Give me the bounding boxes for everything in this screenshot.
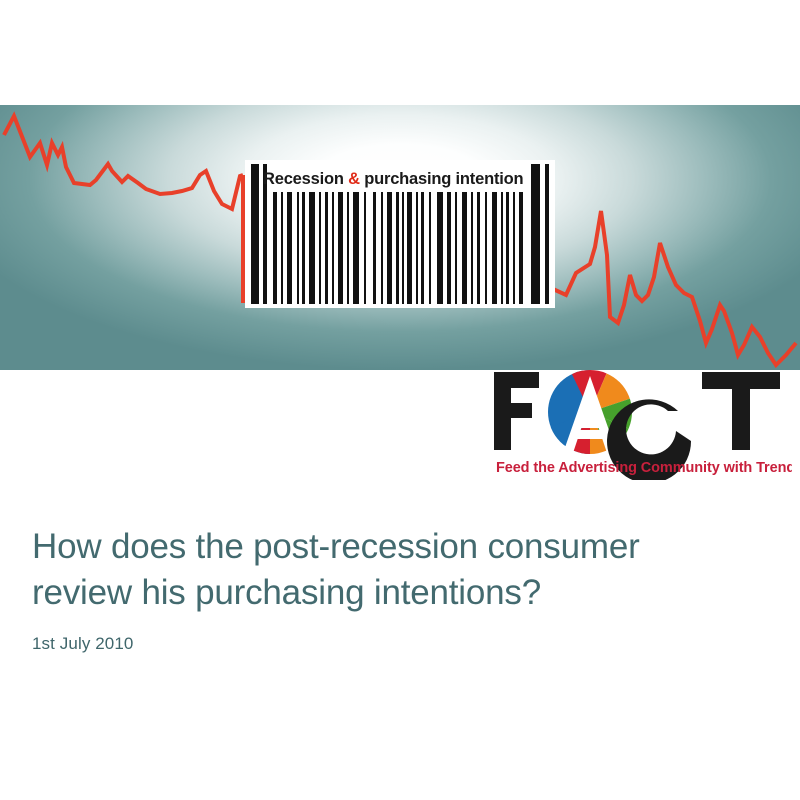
- decline-line-left: [4, 116, 243, 209]
- barcode-graphic: Recession & purchasing intention: [245, 160, 555, 308]
- page-title-line-2: review his purchasing intentions?: [32, 573, 541, 612]
- barcode-title-suffix: purchasing intention: [360, 170, 524, 188]
- page-title: How does the post-recession consumer rev…: [32, 524, 762, 616]
- recession-banner: Recession & purchasing intention: [0, 105, 800, 370]
- page-title-line-1: How does the post-recession consumer: [32, 527, 640, 566]
- fact-logo-graphic: Feed the Advertising Community with Tren…: [492, 368, 792, 480]
- decline-line-right: [553, 211, 796, 365]
- barcode-title-ampersand: &: [348, 170, 360, 188]
- logo-letter-f: [494, 372, 539, 450]
- slide-date: 1st July 2010: [32, 616, 762, 655]
- logo-tagline: Feed the Advertising Community with Tren…: [496, 460, 792, 476]
- logo-letter-t: [702, 372, 780, 450]
- fact-logo: Feed the Advertising Community with Tren…: [492, 368, 792, 480]
- title-block: How does the post-recession consumer rev…: [32, 524, 762, 655]
- barcode-title-prefix: Recession: [263, 170, 348, 188]
- presentation-slide: Recession & purchasing intention: [0, 0, 800, 800]
- barcode-title: Recession & purchasing intention: [263, 166, 533, 192]
